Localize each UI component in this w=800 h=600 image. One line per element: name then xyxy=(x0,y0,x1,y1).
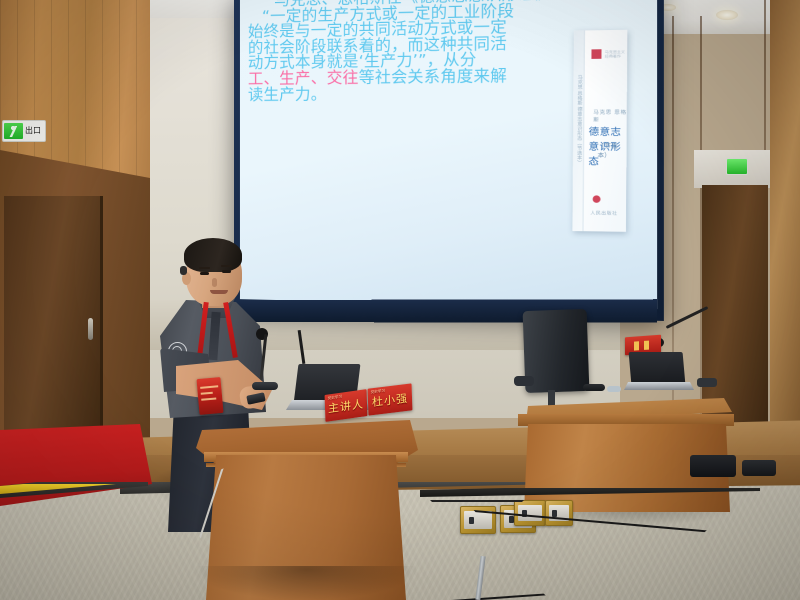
speaker-eye xyxy=(222,270,231,273)
earpiece-microphone-icon xyxy=(180,266,187,275)
publisher-logo-icon xyxy=(591,49,601,59)
projection-screen-frame: “马克思、恩格斯在《德意志意识形态》 “一定的生产方式或一定的工业阶段 始终是与… xyxy=(234,0,664,321)
floor-equipment xyxy=(742,460,776,476)
speaker-nose xyxy=(212,278,217,287)
door-handle[interactable] xyxy=(88,318,93,340)
podium-name-plate: 党史学习 杜小强 xyxy=(368,383,413,415)
publisher-mark-icon xyxy=(593,195,601,203)
floor-equipment xyxy=(690,455,736,477)
slide-book-image: 马克思 恩格斯 德意志意识形态（节选本） 马克思主义经典著作 马克思 恩格斯 德… xyxy=(572,30,627,232)
nameplate-glyph xyxy=(634,341,639,350)
speaker-mouth xyxy=(210,290,228,294)
running-man-icon xyxy=(9,126,18,137)
exit-sign-left: 出口 xyxy=(2,120,46,142)
nameplate-glyph xyxy=(644,341,649,350)
book-publisher: 人民出版社 xyxy=(590,210,617,217)
table-laptop-screen[interactable] xyxy=(629,352,686,385)
speaker-eye xyxy=(200,272,209,275)
exit-sign-panel xyxy=(4,123,23,139)
book-subtitle: （节选本） xyxy=(597,140,626,159)
id-badge xyxy=(196,377,223,415)
lecture-hall-photo: 出口 “马克思、恩格斯在《德意志意识形态》 “一定的生产方式或一定的工业阶段 始… xyxy=(0,0,800,600)
table-laptop-keyboard[interactable] xyxy=(624,382,694,390)
speaker-hair xyxy=(184,238,242,272)
table-remote[interactable] xyxy=(583,384,605,391)
chair-armrest[interactable] xyxy=(514,376,534,386)
exit-sign-label: 出口 xyxy=(25,127,41,135)
exit-sign-right xyxy=(726,158,748,175)
podium-microphone-base xyxy=(252,382,278,390)
table-device[interactable] xyxy=(697,378,717,387)
book-spine-text: 马克思 恩格斯 德意志意识形态（节选本） xyxy=(575,75,583,165)
book-series-label: 马克思主义经典著作 xyxy=(605,50,627,60)
screen-lower-frame xyxy=(233,299,657,323)
table-small-object[interactable] xyxy=(607,386,621,392)
book-authors: 马克思 恩格斯 xyxy=(593,109,627,124)
projection-screen: “马克思、恩格斯在《德意志意识形态》 “一定的生产方式或一定的工业阶段 始终是与… xyxy=(240,0,657,309)
